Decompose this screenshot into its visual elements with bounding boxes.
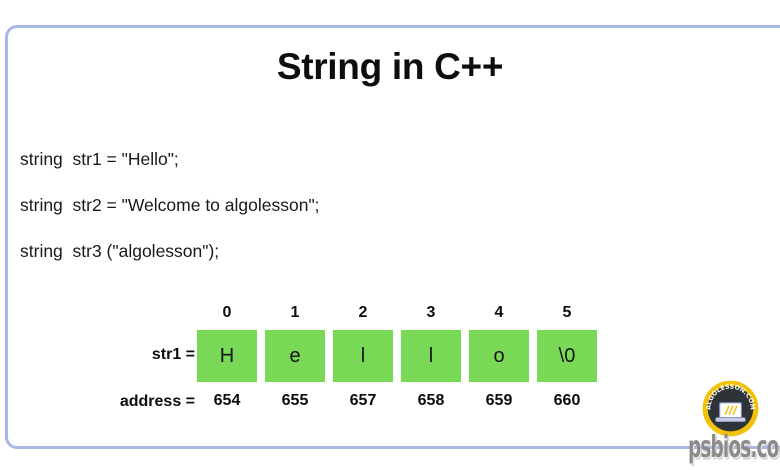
code-line-str3: string str3 ("algolesson"); — [20, 241, 219, 262]
address-value-4: 659 — [469, 392, 529, 410]
char-cell-2: l — [333, 330, 393, 382]
char-cell-0: H — [197, 330, 257, 382]
address-row-label: address = — [40, 393, 195, 411]
site-watermark: psbios.co. — [688, 430, 780, 465]
index-label-4: 4 — [469, 304, 529, 322]
index-label-0: 0 — [197, 304, 257, 322]
address-value-5: 660 — [537, 392, 597, 410]
code-line-str2: string str2 = "Welcome to algolesson"; — [20, 195, 320, 216]
address-cells: 654 655 657 658 659 660 — [197, 392, 597, 410]
index-row: 0 1 2 3 4 5 — [0, 304, 780, 326]
page-title: String in C++ — [0, 46, 780, 88]
address-value-1: 655 — [265, 392, 325, 410]
character-cells: H e l l o \0 — [197, 330, 597, 382]
address-value-3: 658 — [401, 392, 461, 410]
address-value-2: 657 — [333, 392, 393, 410]
str1-row-label: str1 = — [40, 346, 195, 364]
index-label-1: 1 — [265, 304, 325, 322]
char-cell-4: o — [469, 330, 529, 382]
code-line-str1: string str1 = "Hello"; — [20, 149, 179, 170]
address-row: address = 654 655 657 658 659 660 — [0, 392, 780, 414]
memory-layout-diagram: 0 1 2 3 4 5 str1 = H e l l o \0 address … — [0, 300, 780, 425]
index-label-5: 5 — [537, 304, 597, 322]
char-cell-5: \0 — [537, 330, 597, 382]
index-cells: 0 1 2 3 4 5 — [197, 304, 597, 322]
character-boxes-row: str1 = H e l l o \0 — [0, 330, 780, 382]
laptop-icon — [716, 403, 746, 422]
address-value-0: 654 — [197, 392, 257, 410]
index-label-3: 3 — [401, 304, 461, 322]
algolesson-logo-badge: ALGOLESSON.COM — [702, 380, 759, 437]
slide-canvas: String in C++ string str1 = "Hello"; str… — [0, 0, 780, 470]
index-label-2: 2 — [333, 304, 393, 322]
char-cell-3: l — [401, 330, 461, 382]
char-cell-1: e — [265, 330, 325, 382]
